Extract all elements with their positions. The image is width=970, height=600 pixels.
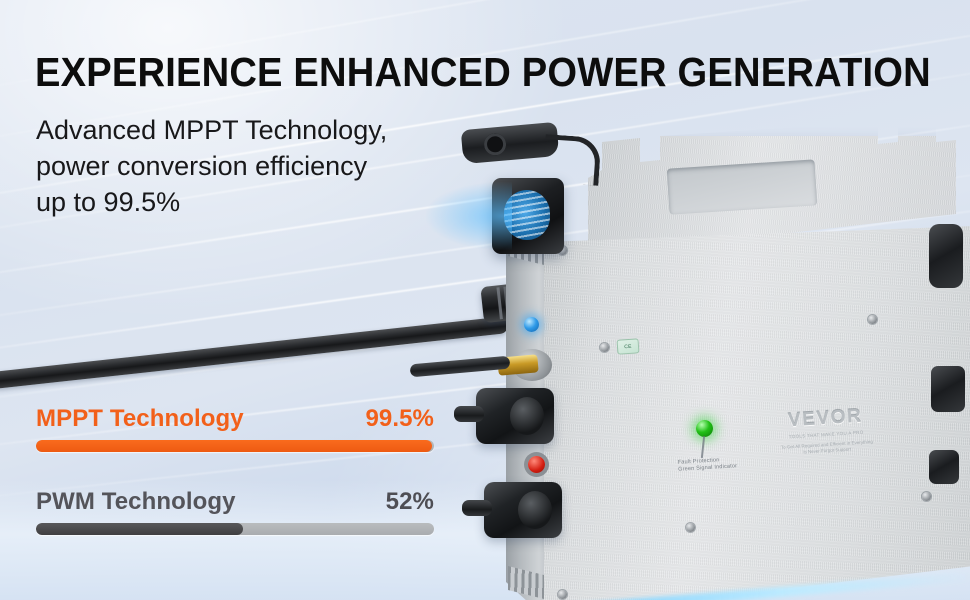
mc4-connector-positive — [476, 388, 554, 444]
subheading-line-2: power conversion efficiency — [36, 148, 387, 184]
chart-row-pwm: PWM Technology 52% — [36, 488, 434, 535]
ac-cap-strap — [542, 134, 601, 186]
marketing-banner: CE Fault Protection Green Signal Indicat… — [0, 0, 970, 600]
chart-row-header: PWM Technology 52% — [36, 488, 434, 516]
inverter-body-texture — [544, 226, 970, 600]
product-image: CE Fault Protection Green Signal Indicat… — [440, 120, 970, 590]
ce-mark-icon: CE — [617, 338, 640, 354]
right-side-port-top — [929, 224, 963, 288]
chart-row-value: 99.5% — [365, 405, 434, 433]
chart-row-label: PWM Technology — [36, 488, 236, 516]
screw-icon — [600, 343, 609, 352]
chart-bar-fill — [36, 440, 432, 452]
screw-icon — [686, 523, 695, 532]
brand-name: VEVOR — [779, 405, 872, 433]
screw-icon — [868, 315, 877, 324]
green-status-led — [696, 420, 713, 437]
inverter-body — [544, 226, 970, 600]
chart-row-header: MPPT Technology 99.5% — [36, 405, 434, 433]
ac-port-glow — [426, 182, 512, 250]
chart-row-value: 52% — [386, 488, 434, 516]
mc4-connector-negative — [484, 482, 562, 538]
chart-row-label: MPPT Technology — [36, 405, 244, 433]
chart-bar-track — [36, 523, 434, 535]
bracket-handle-cutout — [667, 159, 818, 214]
chart-bar-fill — [36, 523, 243, 535]
chart-bar-track — [36, 440, 434, 452]
right-side-port-middle — [931, 366, 965, 412]
efficiency-comparison-chart: MPPT Technology 99.5% PWM Technology 52% — [36, 405, 434, 535]
subheading-line-1: Advanced MPPT Technology, — [36, 112, 387, 148]
right-side-port-bottom — [929, 450, 959, 484]
red-reset-button — [528, 456, 545, 473]
chart-row-mppt: MPPT Technology 99.5% — [36, 405, 434, 452]
subheading-line-3: up to 99.5% — [36, 184, 387, 220]
brand-mark: VEVOR TOOLS THAT MAKE YOU A PRO To Get A… — [779, 405, 874, 457]
page-title: EXPERIENCE ENHANCED POWER GENERATION — [35, 48, 931, 96]
screw-icon — [922, 492, 931, 501]
blue-indicator-led — [524, 317, 539, 332]
screw-icon — [558, 590, 567, 599]
subheading: Advanced MPPT Technology, power conversi… — [36, 112, 387, 220]
